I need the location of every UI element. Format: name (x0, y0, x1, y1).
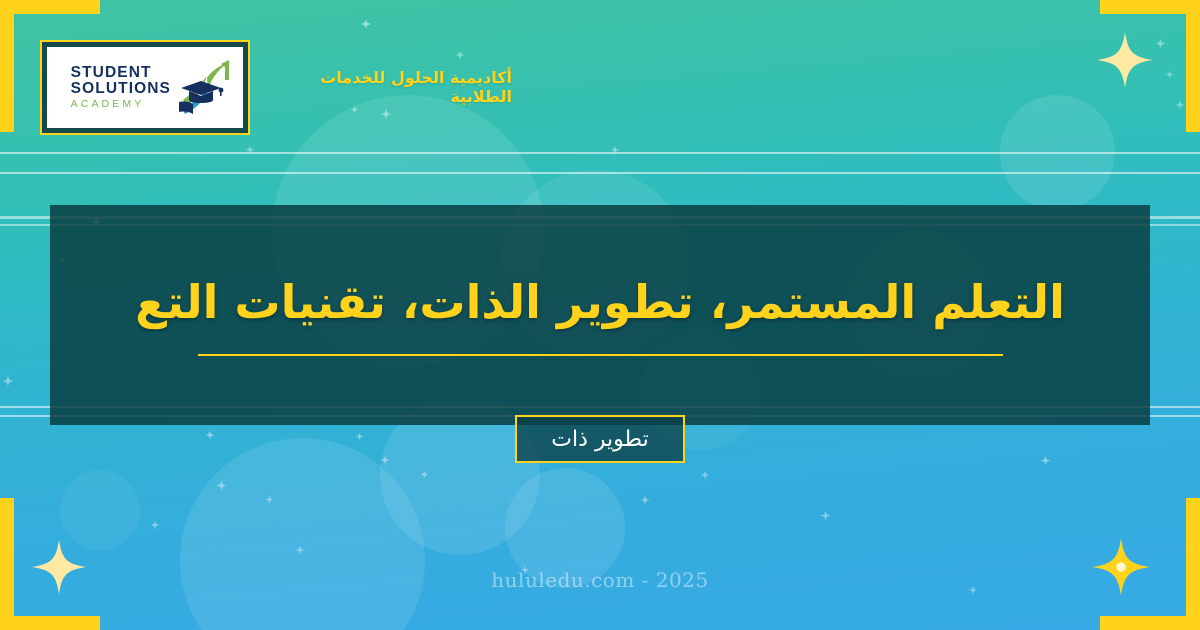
logo-line-3: ACADEMY (71, 99, 145, 110)
decorative-rule (0, 152, 1200, 154)
page-title: التعلم المستمر، تطوير الذات، تقنيات التع (95, 274, 1105, 332)
logo: STUDENT SOLUTIONS ACADEMY (47, 47, 243, 128)
sparkle-dot (1155, 38, 1166, 49)
sparkle-star-top-right (1095, 30, 1155, 90)
headline-panel: التعلم المستمر، تطوير الذات، تقنيات التع (50, 205, 1150, 425)
sparkle-dot (380, 455, 390, 465)
sparkle-dot (610, 145, 620, 155)
decorative-circle (60, 470, 140, 550)
sparkle-dot (2, 375, 14, 387)
sparkle-dot (455, 50, 465, 60)
logo-line-1: STUDENT (71, 65, 152, 81)
corner-frame-top-right (1100, 0, 1200, 132)
corner-frame-bottom-left (0, 498, 100, 630)
sparkle-dot (355, 432, 364, 441)
decorative-rule (0, 172, 1200, 174)
brand-tagline: أكاديمية الحلول للخدمات الطلابية (262, 68, 512, 106)
sparkle-dot (380, 108, 392, 120)
sparkle-dot (820, 510, 831, 521)
decorative-circle (180, 438, 425, 630)
sparkle-dot (295, 545, 305, 555)
logo-wordmark: STUDENT SOLUTIONS ACADEMY (71, 65, 171, 109)
logo-frame: STUDENT SOLUTIONS ACADEMY (40, 40, 250, 135)
graduation-cap-book-arrow-icon (177, 58, 235, 118)
sparkle-dot (150, 520, 160, 530)
sparkle-dot (360, 18, 372, 30)
sparkle-dot (205, 430, 215, 440)
decorative-circle (1000, 95, 1115, 210)
headline-underline (198, 354, 1003, 356)
sparkle-dot (640, 495, 650, 505)
corner-frame-bottom-right (1100, 498, 1200, 630)
sparkle-dot (420, 470, 429, 479)
sparkle-dot (700, 470, 710, 480)
footer-credit: hululedu.com - 2025 (0, 568, 1200, 592)
sparkle-dot (245, 145, 255, 155)
sparkle-dot (265, 495, 274, 504)
sparkle-dot (1175, 100, 1185, 110)
sparkle-dot (1040, 455, 1051, 466)
sparkle-dot (1165, 70, 1174, 79)
logo-line-2: SOLUTIONS (71, 81, 171, 97)
social-card: STUDENT SOLUTIONS ACADEMY أكاديمية الحلو… (0, 0, 1200, 630)
keyword-badge: تطوير ذات (515, 415, 685, 463)
sparkle-dot (216, 480, 227, 491)
sparkle-dot (350, 105, 359, 114)
